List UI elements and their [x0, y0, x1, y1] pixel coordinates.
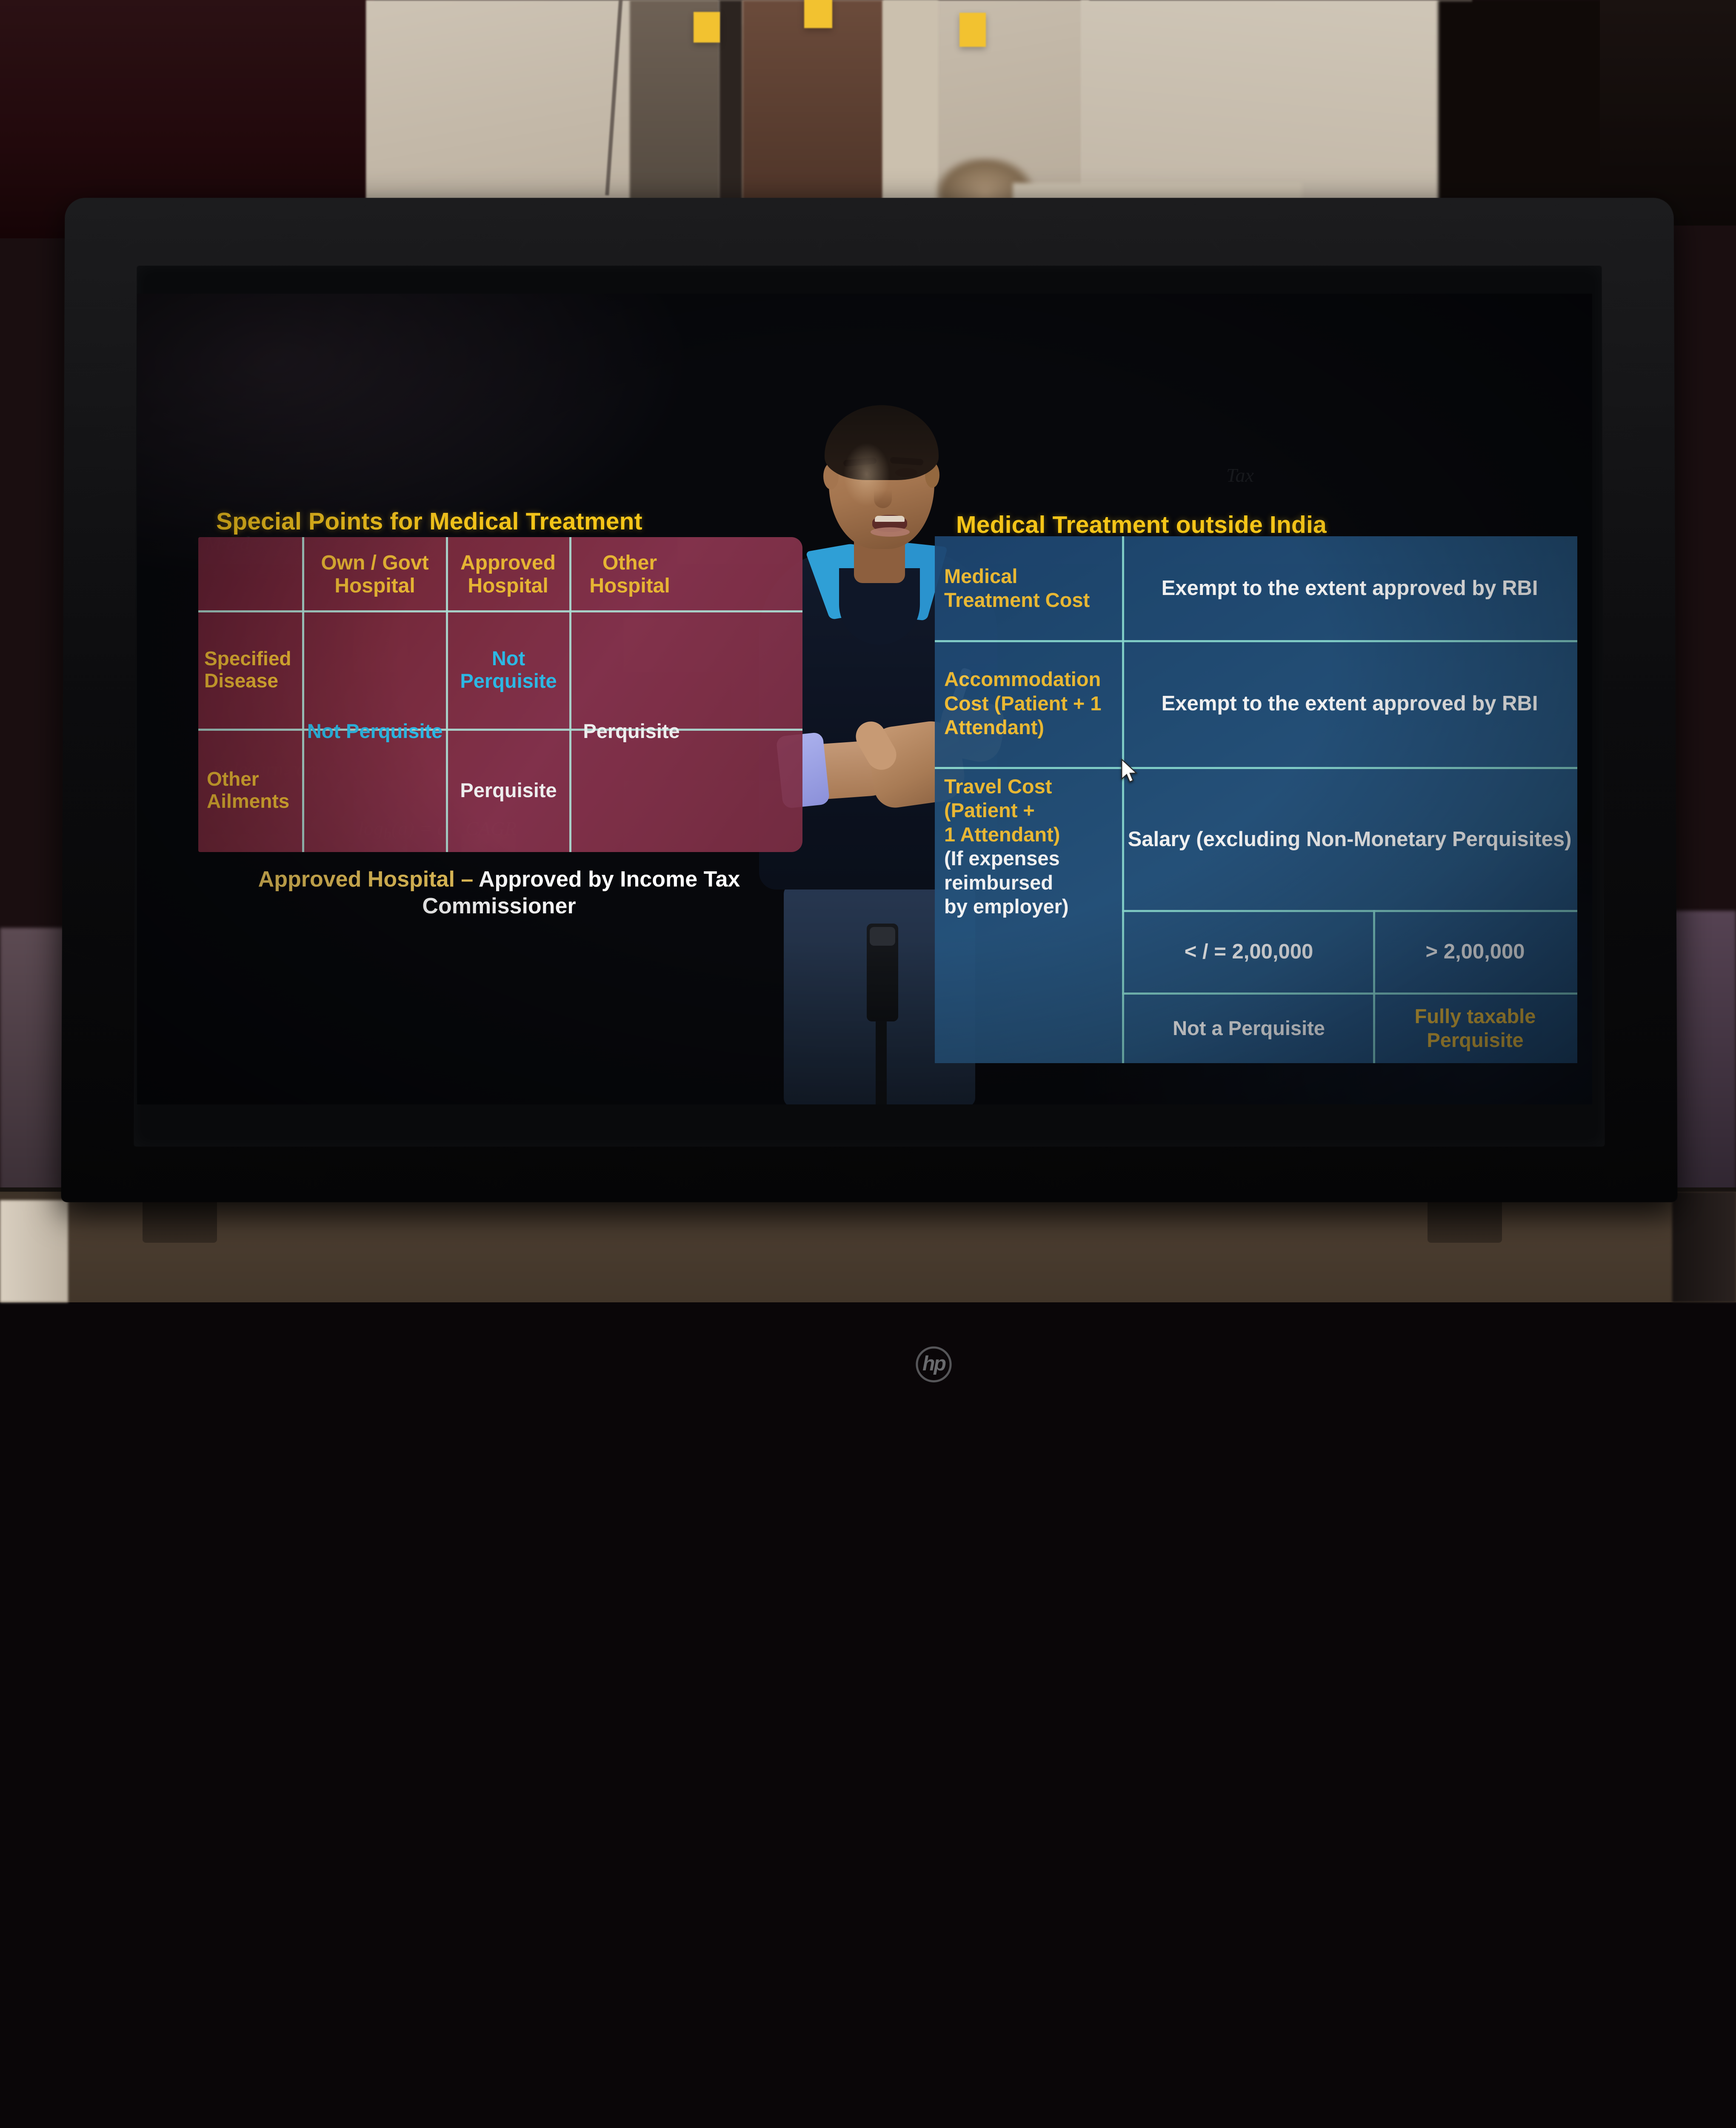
travel-cost-line-4: (If expenses — [944, 847, 1069, 870]
result-fully-taxable-perquisite: Fully taxable Perquisite — [1377, 995, 1573, 1061]
column-header-approved-hospital: Approved Hospital — [448, 539, 568, 610]
left-table: Own / Govt Hospital Approved Hospital Ot… — [198, 537, 802, 852]
laptop-screen[interactable]: M·e·d ngleearn.com logb(a) = c CAGR Tax — [137, 294, 1592, 1104]
table-edge-right — [1672, 1192, 1736, 1302]
table-gridline — [1122, 536, 1124, 1063]
table-gridline — [446, 537, 448, 852]
row-value-accommodation-cost: Exempt to the extent approved by RBI — [1127, 644, 1572, 764]
cell-approved-specified-disease: Not Perquisite — [448, 613, 568, 727]
table-gridline — [198, 729, 802, 731]
door-opening — [742, 0, 883, 209]
threshold-high: > 2,00,000 — [1377, 912, 1573, 991]
table-gridline — [569, 537, 571, 852]
table-gridline — [1373, 910, 1375, 1063]
table-edge-left — [0, 1200, 68, 1302]
result-not-a-perquisite: Not a Perquisite — [1127, 995, 1371, 1061]
row-key-travel-cost: Travel Cost (Patient + 1 Attendant) (If … — [938, 770, 1119, 1060]
threshold-low: < / = 2,00,000 — [1127, 912, 1371, 991]
left-panel-title: Special Points for Medical Treatment — [216, 507, 642, 535]
travel-cost-line-1: Travel Cost — [944, 775, 1069, 798]
row-key-medical-treatment-cost: Medical Treatment Cost — [938, 539, 1119, 638]
sticky-note — [804, 0, 832, 28]
cell-approved-other-ailments: Perquisite — [448, 731, 568, 849]
row-header-specified-disease: Specified Disease — [201, 613, 300, 727]
hp-logo: hp — [916, 1347, 951, 1383]
travel-cost-line-5: reimbursed — [944, 871, 1069, 895]
right-table: Medical Treatment Cost Exempt to the ext… — [935, 536, 1577, 1063]
row-value-medical-treatment-cost: Exempt to the extent approved by RBI — [1127, 539, 1572, 638]
travel-cost-line-6: by employer) — [944, 895, 1069, 918]
right-panel-title: Medical Treatment outside India — [956, 511, 1327, 539]
column-header-other-hospital: Other Hospital — [572, 539, 688, 610]
sticky-note — [694, 12, 720, 43]
cell-own-govt-merged: Not Perquisite — [305, 613, 445, 849]
travel-cost-line-3: 1 Attendant) — [944, 823, 1069, 847]
table-gridline — [935, 640, 1577, 642]
table-gridline — [1122, 910, 1577, 912]
table-gridline — [1122, 992, 1577, 995]
slide-content: Special Points for Medical Treatment Own… — [137, 294, 1592, 1104]
row-value-travel-cost: Salary (excluding Non-Monetary Perquisit… — [1127, 770, 1572, 908]
left-panel-note: Approved Hospital – Approved by Income T… — [199, 866, 799, 920]
wall-right — [1081, 0, 1472, 213]
table-gridline — [935, 767, 1577, 769]
row-key-accommodation-cost: Accommodation Cost (Patient + 1 Attendan… — [938, 644, 1119, 764]
sticky-note — [959, 13, 986, 47]
travel-cost-line-2: (Patient + — [944, 798, 1069, 822]
row-header-other-ailments: Other Ailments — [201, 731, 300, 849]
door-jamb — [719, 0, 742, 209]
cell-other-hospital-merged: Perquisite — [572, 613, 691, 849]
note-highlight: Approved Hospital – — [258, 867, 479, 892]
table-gridline — [302, 537, 304, 852]
dark-wall-edge — [1600, 0, 1736, 226]
column-header-own-govt-hospital: Own / Govt Hospital — [306, 539, 444, 610]
door-frame — [883, 0, 938, 209]
table-gridline — [198, 610, 802, 612]
dark-wall-strip — [1438, 0, 1617, 213]
